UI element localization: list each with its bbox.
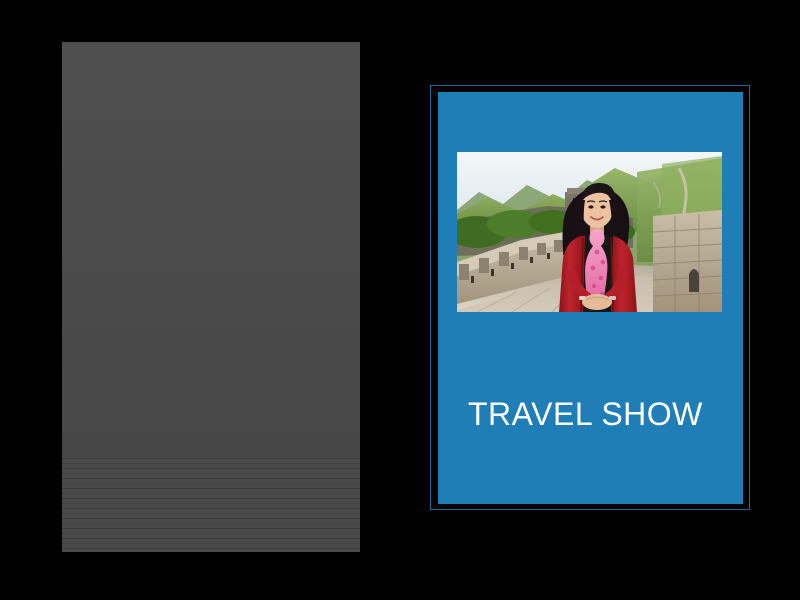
photo-artwork (457, 152, 722, 312)
slide-title: TRAVEL SHOW (468, 397, 718, 432)
great-wall-photo (457, 152, 722, 312)
placeholder-text-lines (62, 458, 360, 552)
slide-canvas: TRAVEL SHOW (0, 0, 800, 600)
travel-show-slide[interactable]: TRAVEL SHOW (438, 92, 743, 504)
empty-content-placeholder[interactable] (62, 42, 360, 552)
placeholder-body (62, 42, 360, 458)
